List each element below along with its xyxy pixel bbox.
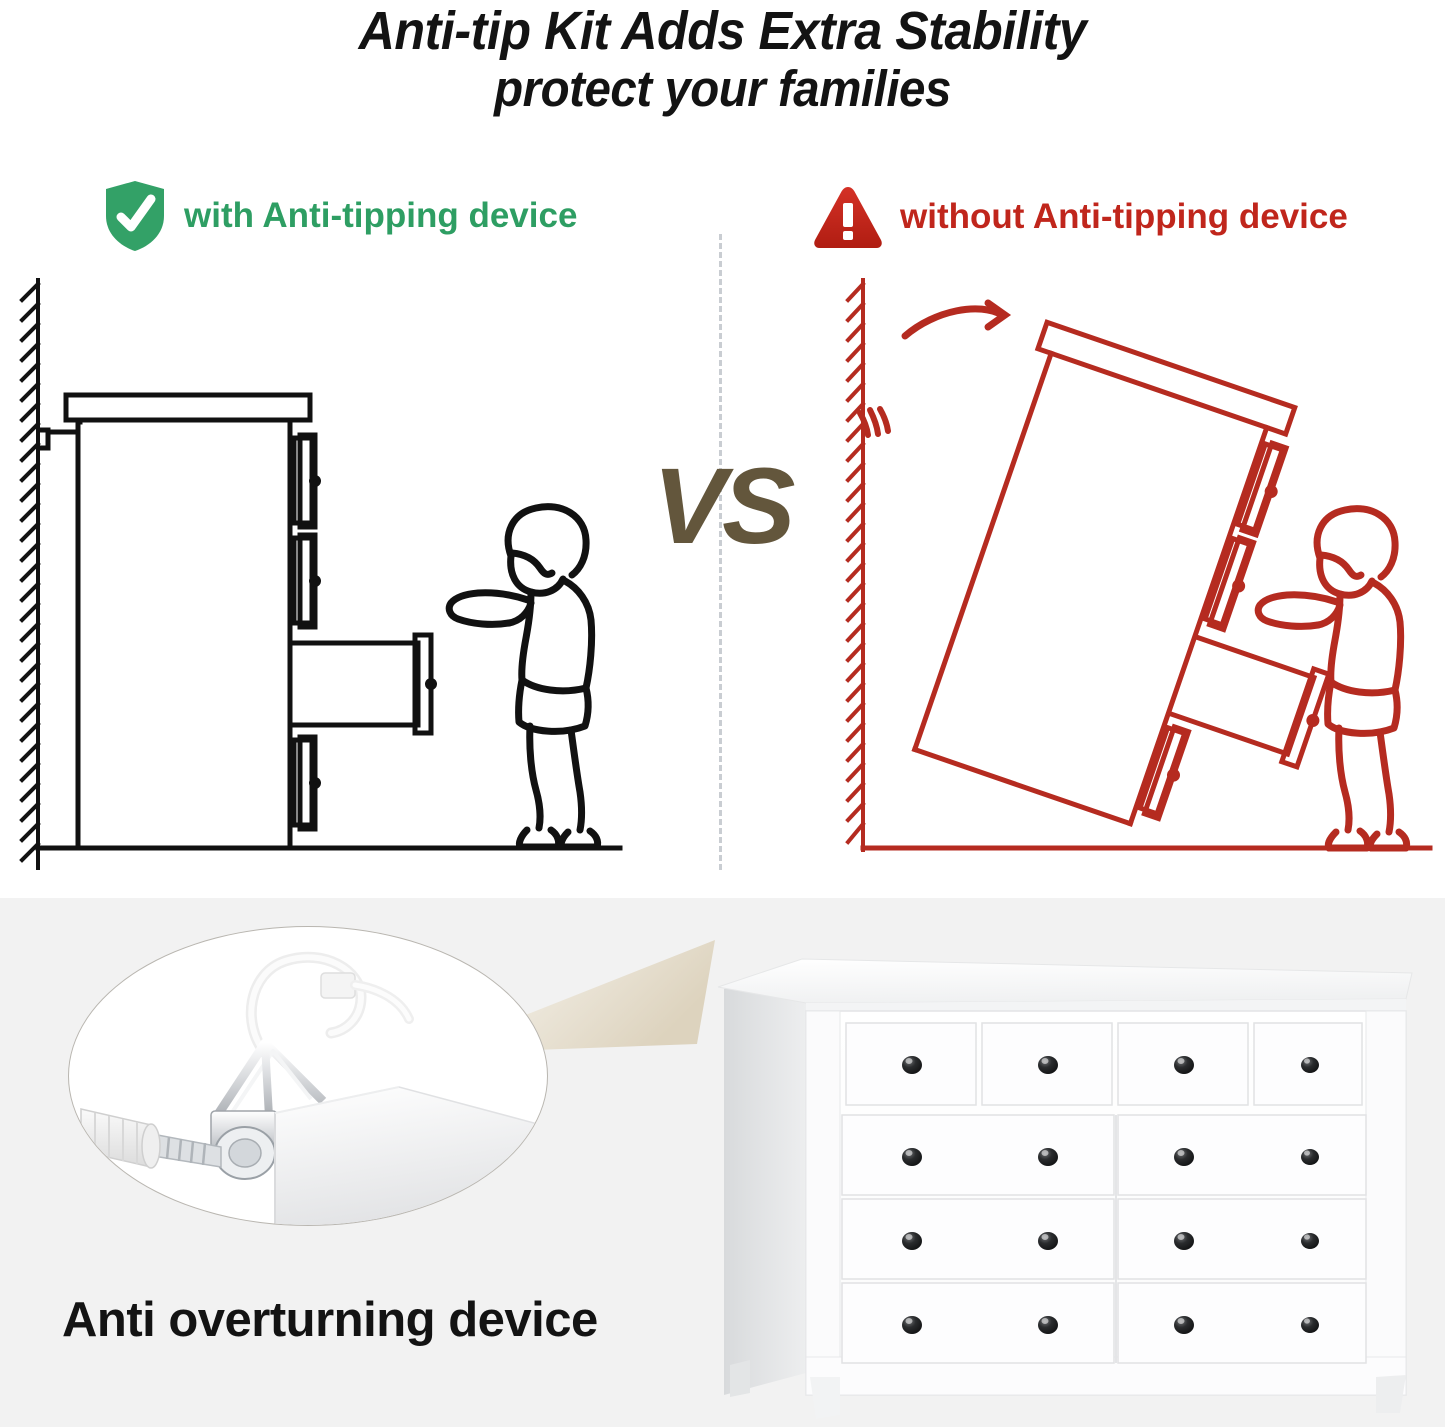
dresser-anchored-to-wall-illustration — [0, 270, 660, 870]
warning-triangle-icon — [812, 184, 884, 250]
magnifier-circle-callout — [68, 926, 548, 1226]
without-device-label-group: without Anti-tipping device — [812, 184, 1348, 250]
vs-label: VS — [653, 452, 792, 560]
anti-tip-hardware-closeup — [69, 927, 548, 1226]
dresser-tipping-over-illustration — [830, 270, 1445, 870]
product-showcase-section: Anti overturning device — [0, 898, 1445, 1427]
anti-overturning-device-label: Anti overturning device — [62, 1292, 598, 1348]
page-title: Anti-tip Kit Adds Extra Stability protec… — [0, 2, 1445, 118]
infographic-page: Anti-tip Kit Adds Extra Stability protec… — [0, 0, 1445, 1427]
shield-check-icon — [104, 180, 166, 252]
with-device-label-group: with Anti-tipping device — [104, 180, 577, 252]
comparison-label-row: with Anti-tipping device without Anti-ti — [0, 180, 1445, 260]
without-device-label: without Anti-tipping device — [900, 197, 1348, 237]
white-10-drawer-dresser — [694, 925, 1434, 1425]
title-line-1: Anti-tip Kit Adds Extra Stability — [51, 2, 1395, 60]
title-line-2: protect your families — [51, 60, 1395, 118]
with-device-label: with Anti-tipping device — [184, 196, 577, 236]
